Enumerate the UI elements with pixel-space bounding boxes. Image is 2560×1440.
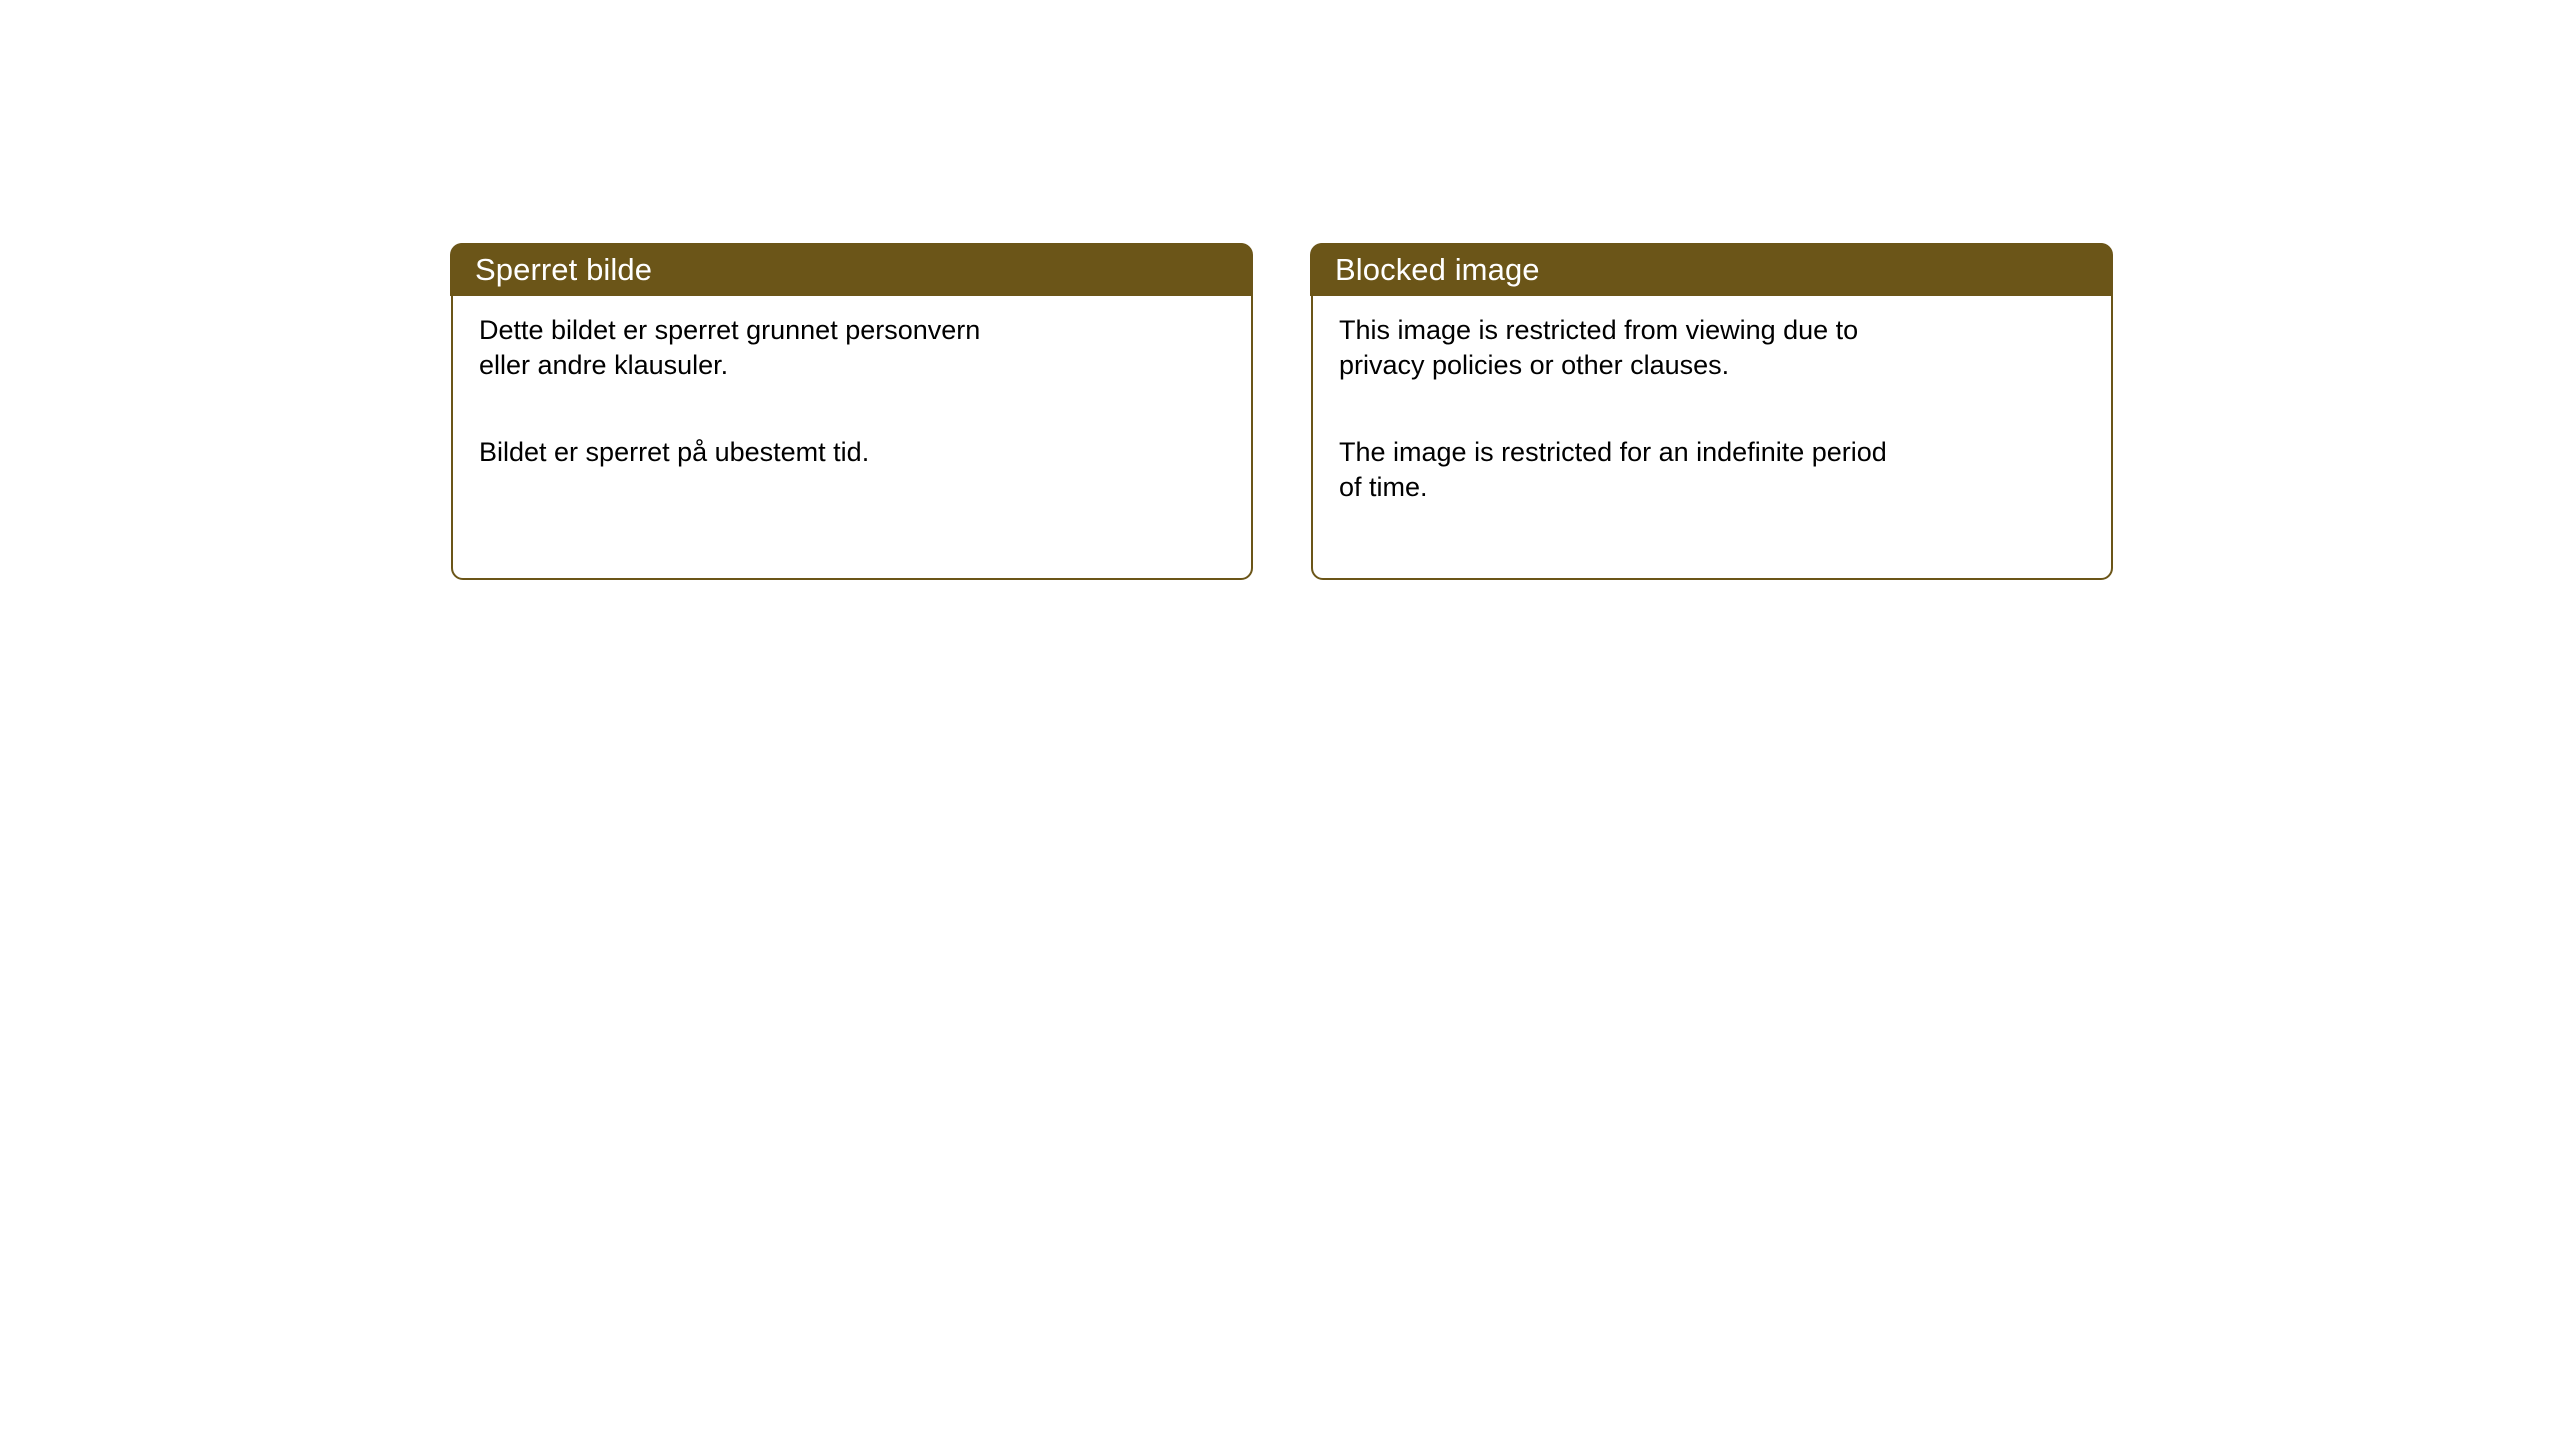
paragraph-line: Dette bildet er sperret grunnet personve…	[479, 313, 1219, 348]
panel-header-english: Blocked image	[1310, 243, 2112, 296]
panel-paragraph: The image is restricted for an indefinit…	[1339, 435, 2079, 505]
panel-body-english: This image is restricted from viewing du…	[1313, 296, 2111, 578]
blocked-image-panel-norwegian: Sperret bilde Dette bildet er sperret gr…	[451, 243, 1253, 580]
paragraph-line: of time.	[1339, 470, 2079, 505]
panel-header-norwegian: Sperret bilde	[450, 243, 1252, 296]
panel-title-norwegian: Sperret bilde	[450, 254, 652, 285]
panel-body-norwegian: Dette bildet er sperret grunnet personve…	[453, 296, 1251, 578]
panel-paragraph: Bildet er sperret på ubestemt tid.	[479, 435, 1219, 470]
blocked-image-panel-english: Blocked image This image is restricted f…	[1311, 243, 2113, 580]
paragraph-line: privacy policies or other clauses.	[1339, 348, 2079, 383]
paragraph-line: This image is restricted from viewing du…	[1339, 313, 2079, 348]
panel-paragraph: Dette bildet er sperret grunnet personve…	[479, 313, 1219, 383]
paragraph-line: The image is restricted for an indefinit…	[1339, 435, 2079, 470]
paragraph-line: eller andre klausuler.	[479, 348, 1219, 383]
panel-paragraph: This image is restricted from viewing du…	[1339, 313, 2079, 383]
paragraph-line: Bildet er sperret på ubestemt tid.	[479, 435, 1219, 470]
page-canvas: Sperret bilde Dette bildet er sperret gr…	[0, 0, 2560, 1440]
panel-title-english: Blocked image	[1310, 254, 1540, 285]
